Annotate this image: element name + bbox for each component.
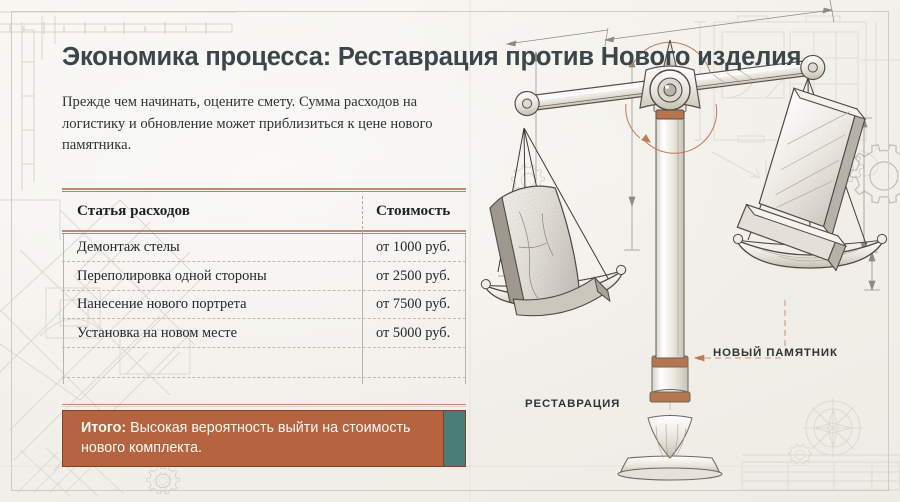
table-header-price: Стоимость [362,202,466,220]
table-cell-item: Установка на новом месте [62,325,362,342]
table-cell-price: от 5000 руб. [362,325,466,342]
table-row: Установка на новом месте от 5000 руб. [62,319,466,348]
illustration-label-restoration: РЕСТАВРАЦИЯ [525,398,620,410]
table-cell-item: Демонтаж стелы [62,239,362,256]
table-row: Переполировка одной стороны от 2500 руб. [62,262,466,291]
table-cell-price: от 1000 руб. [362,239,466,256]
table-row-spacer [62,378,466,392]
balance-scale-illustration [480,0,900,502]
table-row-empty [62,348,466,378]
table-rule-middle [362,234,363,384]
table-rule-right [465,234,466,384]
callout-top-rule [62,404,466,407]
callout-accent-block [443,411,465,466]
table-row: Демонтаж стелы от 1000 руб. [62,234,466,263]
table-cell-price: от 7500 руб. [362,296,466,313]
table-cell-item: Нанесение нового портрета [62,296,362,313]
intro-paragraph: Прежде чем начинать, оцените смету. Сумм… [62,92,462,157]
table-rule-left [63,234,64,384]
summary-callout-wrapper: Итого: Высокая вероятность выйти на стои… [62,404,466,467]
table-header-divider [362,196,363,234]
table-body: Демонтаж стелы от 1000 руб. Переполировк… [62,234,466,392]
summary-callout: Итого: Высокая вероятность выйти на стои… [62,410,466,467]
table-header-item: Статья расходов [62,202,362,220]
cost-table: Статья расходов Стоимость Демонтаж стелы… [62,188,466,392]
table-header-row: Статья расходов Стоимость [62,192,466,230]
page-title: Экономика процесса: Реставрация против Н… [62,42,500,72]
summary-callout-label: Итого: [81,420,126,436]
table-cell-price: от 2500 руб. [362,268,466,285]
table-row: Нанесение нового портрета от 7500 руб. [62,291,466,320]
content-column: Экономика процесса: Реставрация против Н… [0,0,500,502]
illustration-label-new-monument: НОВЫЙ ПАМЯТНИК [713,347,838,359]
summary-callout-body: Высокая вероятность выйти на стоимость н… [81,420,411,456]
summary-callout-text: Итого: Высокая вероятность выйти на стои… [81,418,421,459]
table-cell-item: Переполировка одной стороны [62,268,362,285]
slide-root: РЕСТАВРАЦИЯ НОВЫЙ ПАМЯТНИК Экономика про… [0,0,900,502]
